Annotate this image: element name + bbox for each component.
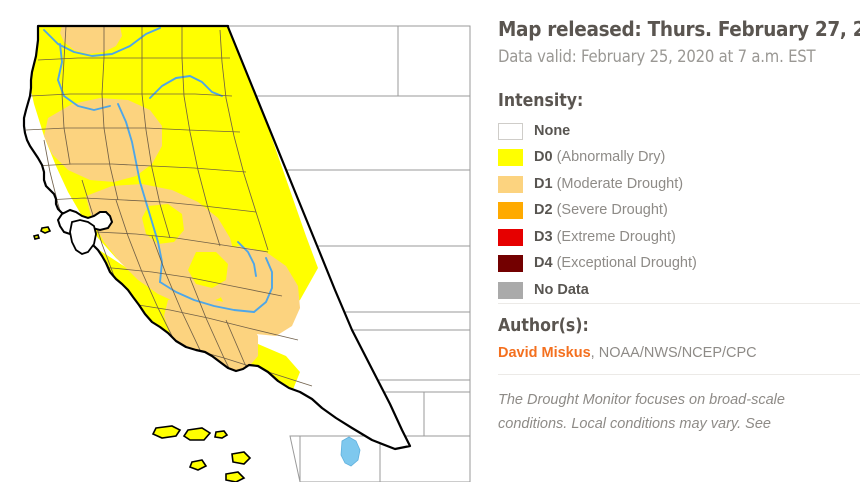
legend-item-d1[interactable]: D1 (Moderate Drought) [498, 171, 860, 198]
author-affiliation: , NOAA/NWS/NCEP/CPC [591, 345, 757, 361]
author-line: David Miskus, NOAA/NWS/NCEP/CPC [498, 346, 860, 361]
legend-item-d0[interactable]: D0 (Abnormally Dry) [498, 144, 860, 171]
info-panel: Map released: Thurs. February 27, 2020 D… [480, 0, 860, 482]
legend-item-d3[interactable]: D3 (Extreme Drought) [498, 224, 860, 251]
swatch-d1-icon [498, 176, 523, 193]
map-released-title: Map released: Thurs. February 27, 2020 [498, 18, 860, 41]
drought-monitor-page: Map released: Thurs. February 27, 2020 D… [0, 0, 860, 482]
swatch-no-data-icon [498, 282, 523, 299]
legend-item-none[interactable]: None [498, 118, 860, 145]
legend-label-none: None [534, 124, 570, 139]
data-valid-subtitle: Data valid: February 25, 2020 at 7 a.m. … [498, 48, 860, 66]
swatch-d2-icon [498, 202, 523, 219]
swatch-d3-icon [498, 229, 523, 246]
divider-above-footer [498, 374, 860, 375]
intensity-section: Intensity: None D0 (Abnormally Dry) [498, 92, 860, 304]
footer-section: The Drought Monitor focuses on broad-sca… [498, 389, 860, 436]
footer-disclaimer: The Drought Monitor focuses on broad-sca… [498, 389, 828, 436]
swatch-none-icon [498, 123, 523, 140]
author-heading: Author(s): [498, 317, 860, 336]
legend-label-d2: D2 (Severe Drought) [534, 203, 668, 218]
divider-above-author [498, 303, 860, 304]
intensity-legend-list: None D0 (Abnormally Dry) D1 (Moderate Dr… [498, 118, 860, 304]
map-panel [0, 0, 480, 482]
swatch-d0-icon [498, 149, 523, 166]
legend-item-no-data[interactable]: No Data [498, 277, 860, 304]
legend-label-d4: D4 (Exceptional Drought) [534, 256, 697, 271]
legend-label-d3: D3 (Extreme Drought) [534, 230, 676, 245]
legend-item-d2[interactable]: D2 (Severe Drought) [498, 197, 860, 224]
author-section: Author(s): David Miskus, NOAA/NWS/NCEP/C… [498, 317, 860, 360]
legend-label-d1: D1 (Moderate Drought) [534, 177, 683, 192]
legend-label-d0: D0 (Abnormally Dry) [534, 150, 665, 165]
california-drought-map[interactable] [0, 0, 480, 482]
legend-label-no-data: No Data [534, 283, 589, 298]
intensity-heading: Intensity: [498, 92, 860, 111]
swatch-d4-icon [498, 255, 523, 272]
legend-item-d4[interactable]: D4 (Exceptional Drought) [498, 250, 860, 277]
author-name-link[interactable]: David Miskus [498, 345, 591, 361]
